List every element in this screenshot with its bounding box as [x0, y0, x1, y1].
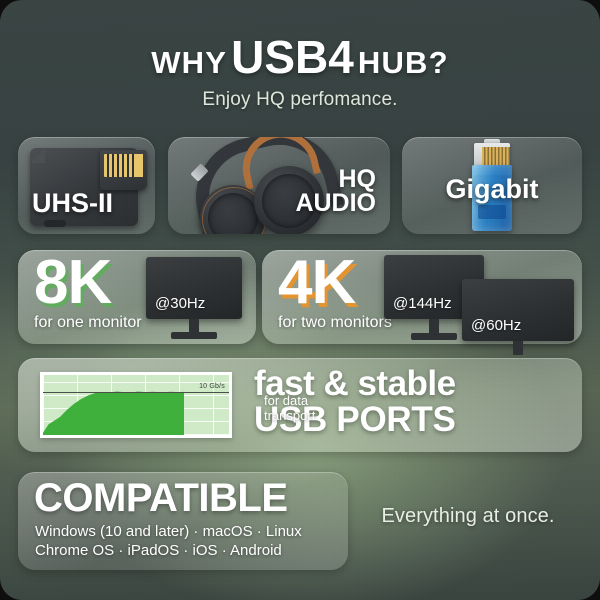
tagline: Everything at once.	[348, 505, 588, 528]
microsd-card-icon	[100, 150, 147, 190]
resolution-caption-4k: for two monitors	[278, 314, 392, 332]
ports-note-line2: transport	[264, 409, 315, 424]
compatibility-card: COMPATIBLE Windows (10 and later) · macO…	[18, 472, 348, 570]
compatibility-os-line1: Windows (10 and later) · macOS · Linux	[35, 523, 302, 540]
resolution-label-8k: 8K	[34, 252, 111, 314]
throughput-chart: 10 Gb/s	[40, 372, 232, 438]
feature-label-gigabit: Gigabit	[402, 177, 582, 203]
title-main: USB4	[231, 31, 354, 83]
title-suffix: HUB?	[358, 45, 449, 80]
chart-area-series	[43, 375, 184, 435]
monitor-screen: @30Hz	[146, 257, 242, 319]
monitor-screen: @60Hz	[462, 279, 574, 341]
feature-label-audio-line1: HQ	[295, 167, 376, 191]
chart-plot-area: 10 Gb/s	[43, 375, 229, 435]
feature-label-uhs: UHS-II	[32, 191, 113, 217]
ports-card: 10 Gb/s fast & stable USB PORTS for data…	[18, 358, 582, 452]
monitor-30hz: @30Hz	[146, 257, 242, 339]
ports-note-line1: for data	[264, 394, 315, 409]
chart-threshold-line	[43, 392, 229, 393]
title-prefix: WHY	[151, 45, 227, 80]
refresh-rate-label: @30Hz	[155, 295, 205, 312]
feature-card-audio: HQ AUDIO	[168, 137, 390, 234]
infographic-poster: WHYUSB4HUB? Enjoy HQ perfomance. UHS-II …	[0, 0, 600, 600]
sd-contacts-icon	[104, 154, 142, 177]
compatibility-title: COMPATIBLE	[34, 478, 288, 518]
resolution-caption-8k: for one monitor	[34, 314, 142, 332]
chart-threshold-label: 10 Gb/s	[199, 383, 225, 390]
display-card-8k: 8K for one monitor @30Hz	[18, 250, 256, 344]
feature-card-gigabit: Gigabit	[402, 137, 582, 234]
feature-card-uhs: UHS-II	[18, 137, 155, 234]
refresh-rate-label: @60Hz	[471, 317, 521, 334]
feature-label-audio-line2: AUDIO	[295, 191, 376, 215]
header: WHYUSB4HUB? Enjoy HQ perfomance.	[0, 34, 600, 111]
monitor-60hz: @60Hz	[462, 279, 574, 357]
feature-label-audio: HQ AUDIO	[295, 167, 376, 215]
header-subtitle: Enjoy HQ perfomance.	[0, 89, 600, 111]
resolution-label-4k: 4K	[278, 252, 355, 314]
page-title: WHYUSB4HUB?	[0, 34, 600, 80]
compatibility-os-line2: Chrome OS · iPadOS · iOS · Android	[35, 542, 282, 559]
ports-note: for data transport	[264, 394, 315, 423]
refresh-rate-label: @144Hz	[393, 295, 452, 312]
display-card-4k: 4K for two monitors @144Hz @60Hz	[262, 250, 582, 344]
